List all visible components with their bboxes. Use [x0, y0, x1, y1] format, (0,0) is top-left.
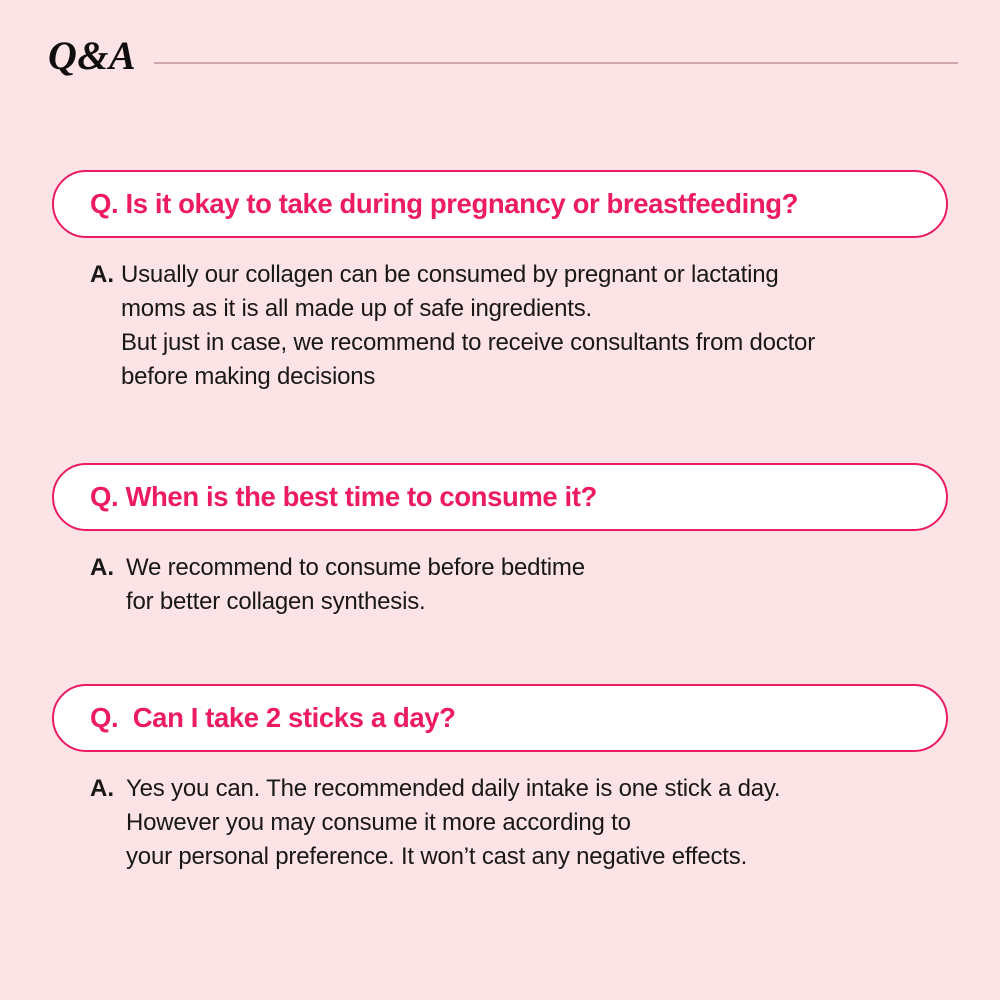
- page-header: Q&A: [48, 34, 960, 82]
- answer-text-2: We recommend to consume before bedtime f…: [126, 551, 585, 619]
- answer-3: A. Yes you can. The recommended daily in…: [90, 772, 948, 874]
- faq-item-3: Q. Can I take 2 sticks a day? A. Yes you…: [52, 684, 948, 874]
- faq-item-2: Q. When is the best time to consume it? …: [52, 463, 948, 619]
- answer-2: A. We recommend to consume before bedtim…: [90, 551, 948, 619]
- answer-marker-3: A.: [90, 772, 114, 806]
- question-text-2: Q. When is the best time to consume it?: [90, 483, 597, 511]
- question-pill-2[interactable]: Q. When is the best time to consume it?: [52, 463, 948, 531]
- question-text-3: Q. Can I take 2 sticks a day?: [90, 704, 456, 732]
- question-pill-1[interactable]: Q. Is it okay to take during pregnancy o…: [52, 170, 948, 238]
- answer-marker-2: A.: [90, 551, 114, 585]
- answer-text-3: Yes you can. The recommended daily intak…: [126, 772, 780, 874]
- header-divider: [154, 62, 958, 64]
- question-text-1: Q. Is it okay to take during pregnancy o…: [90, 190, 798, 218]
- qa-page: Q&A Q. Is it okay to take during pregnan…: [0, 0, 1000, 1000]
- answer-text-1: Usually our collagen can be consumed by …: [121, 258, 815, 394]
- faq-item-1: Q. Is it okay to take during pregnancy o…: [52, 170, 948, 394]
- answer-marker-1: A.: [90, 258, 114, 292]
- answer-1: A. Usually our collagen can be consumed …: [90, 258, 948, 394]
- page-title: Q&A: [48, 36, 136, 80]
- question-pill-3[interactable]: Q. Can I take 2 sticks a day?: [52, 684, 948, 752]
